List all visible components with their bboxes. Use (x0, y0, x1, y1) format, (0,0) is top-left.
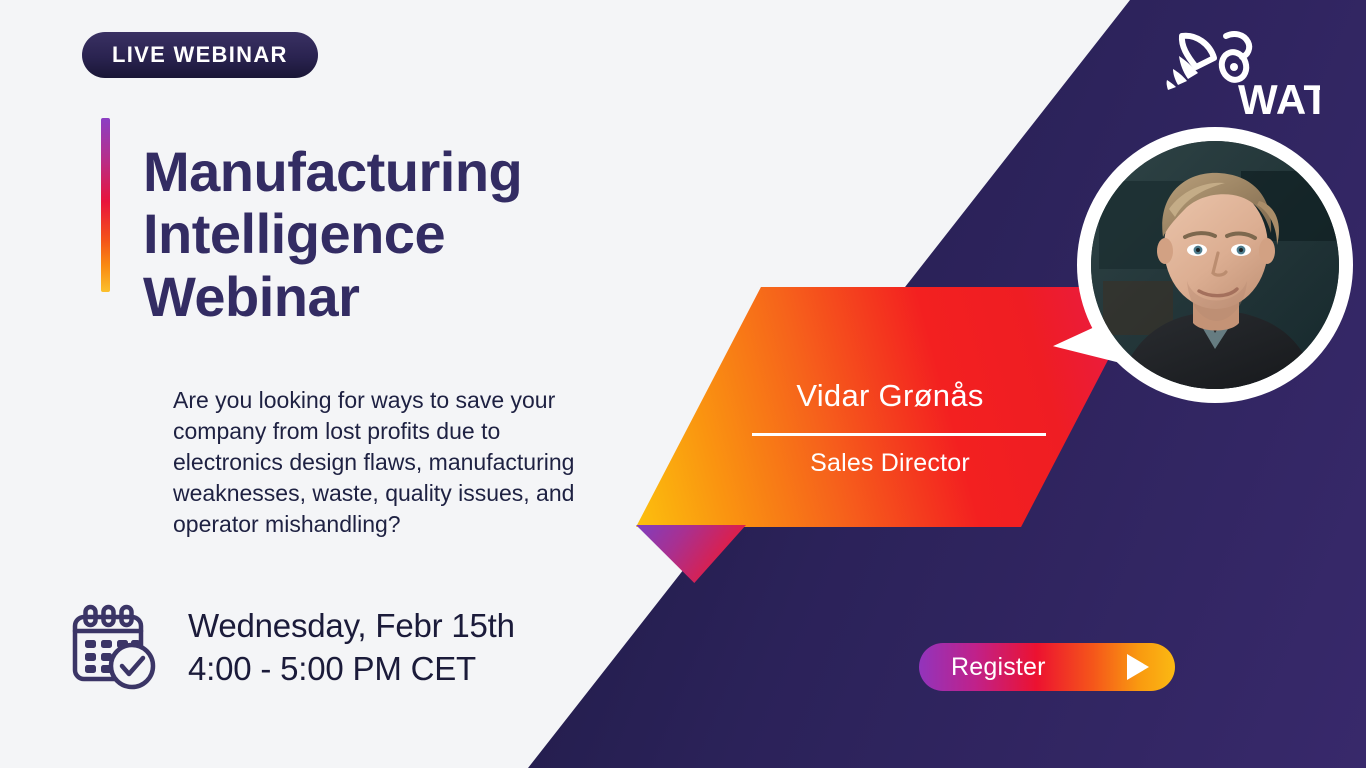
schedule-text: Wednesday, Febr 15th 4:00 - 5:00 PM CET (188, 605, 515, 691)
gradient-accent-bar (101, 118, 110, 292)
calendar-check-icon (70, 604, 162, 692)
wats-logo-text: WATS (1238, 76, 1320, 118)
live-webinar-badge: LIVE WEBINAR (82, 32, 318, 78)
webinar-promo-banner: LIVE WEBINAR Manufacturing Intelligence … (0, 0, 1366, 768)
speaker-name: Vidar Grønås (700, 378, 1080, 414)
page-title: Manufacturing Intelligence Webinar (143, 141, 663, 329)
page-title-line-1: Manufacturing (143, 141, 663, 204)
speaker-role: Sales Director (700, 449, 1080, 478)
register-button-label: Register (951, 653, 1046, 682)
avatar-photo (1091, 141, 1339, 389)
avatar (1055, 127, 1355, 427)
register-button[interactable]: Register (919, 643, 1175, 691)
bee-icon: WATS (1152, 22, 1320, 118)
wats-logo: WATS (1152, 22, 1320, 118)
description-paragraph: Are you looking for ways to save your co… (173, 385, 593, 540)
schedule-time: 4:00 - 5:00 PM CET (188, 648, 515, 691)
play-triangle-icon (1127, 654, 1149, 680)
speaker-divider (752, 433, 1046, 436)
live-webinar-badge-label: LIVE WEBINAR (112, 42, 288, 68)
page-title-line-3: Webinar (143, 266, 663, 329)
schedule-block: Wednesday, Febr 15th 4:00 - 5:00 PM CET (70, 604, 515, 692)
schedule-date: Wednesday, Febr 15th (188, 605, 515, 648)
page-title-line-2: Intelligence (143, 203, 663, 266)
